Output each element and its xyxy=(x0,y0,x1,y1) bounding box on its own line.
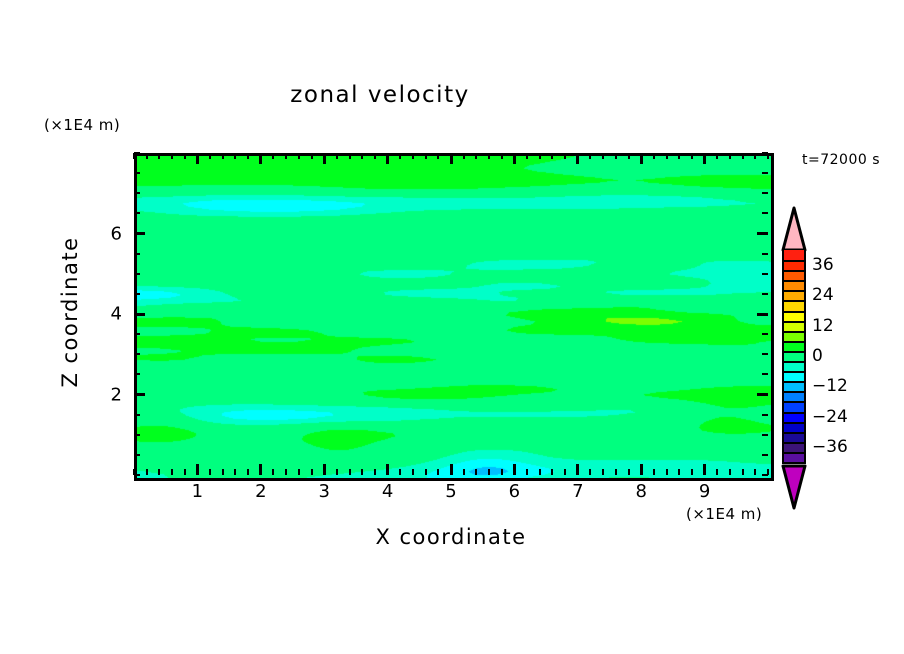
x-tick-label: 6 xyxy=(509,481,520,502)
y-tick-major-right xyxy=(757,313,768,316)
colorbar-segment xyxy=(782,331,806,341)
x-tick-major-top xyxy=(640,153,643,164)
colorbar[interactable] xyxy=(782,250,806,462)
x-tick-label: 1 xyxy=(192,481,203,502)
y-tick-minor-right xyxy=(762,333,768,335)
y-tick-minor-right xyxy=(762,474,768,476)
x-tick-minor xyxy=(488,469,490,475)
x-tick-label: 4 xyxy=(382,481,393,502)
y-tick-minor-right xyxy=(762,192,768,194)
x-tick-minor xyxy=(551,469,553,475)
x-tick-minor xyxy=(412,469,414,475)
colorbar-segment xyxy=(782,260,806,270)
x-tick-minor-top xyxy=(311,153,313,159)
x-tick-label: 8 xyxy=(635,481,646,502)
x-tick-minor-top xyxy=(564,153,566,159)
y-tick-minor-right xyxy=(762,172,768,174)
x-tick-major xyxy=(259,464,262,475)
y-tick-minor-right xyxy=(762,434,768,436)
timestamp-label: t=72000 s xyxy=(802,152,880,168)
x-tick-minor xyxy=(463,469,465,475)
x-tick-minor-top xyxy=(361,153,363,159)
colorbar-segment xyxy=(782,270,806,280)
x-tick-minor-top xyxy=(602,153,604,159)
x-tick-label: 9 xyxy=(699,481,710,502)
x-tick-major xyxy=(703,464,706,475)
x-tick-minor xyxy=(374,469,376,475)
x-tick-minor xyxy=(336,469,338,475)
y-tick-minor xyxy=(134,192,140,194)
x-tick-minor-top xyxy=(488,153,490,159)
x-tick-minor-top xyxy=(729,153,731,159)
x-tick-minor xyxy=(285,469,287,475)
colorbar-segment xyxy=(782,290,806,300)
colorbar-tick-label: −12 xyxy=(812,376,848,396)
x-tick-minor xyxy=(589,469,591,475)
x-tick-minor-top xyxy=(678,153,680,159)
y-tick-minor-right xyxy=(762,373,768,375)
x-tick-minor-top xyxy=(653,153,655,159)
figure-root: zonal velocity (×1E4 m) (×1E4 m) Z coord… xyxy=(0,0,904,654)
x-tick-minor xyxy=(361,469,363,475)
x-tick-minor xyxy=(653,469,655,475)
colorbar-segment xyxy=(782,432,806,442)
colorbar-tick-label: −36 xyxy=(812,437,848,457)
x-tick-major xyxy=(576,464,579,475)
y-tick-minor xyxy=(134,253,140,255)
y-tick-minor xyxy=(134,172,140,174)
colorbar-segment xyxy=(782,412,806,422)
colorbar-segment xyxy=(782,300,806,310)
colorbar-segment xyxy=(782,321,806,331)
x-tick-label: 5 xyxy=(445,481,456,502)
x-tick-minor xyxy=(754,469,756,475)
colorbar-over-arrow-icon xyxy=(776,206,812,252)
x-tick-minor xyxy=(678,469,680,475)
x-tick-minor-top xyxy=(615,153,617,159)
y-tick-minor-right xyxy=(762,253,768,255)
x-tick-major-top xyxy=(450,153,453,164)
colorbar-segment xyxy=(782,401,806,411)
x-tick-minor xyxy=(729,469,731,475)
x-tick-minor-top xyxy=(501,153,503,159)
y-tick-minor xyxy=(134,273,140,275)
y-tick-minor xyxy=(134,212,140,214)
x-tick-major-top xyxy=(703,153,706,164)
x-tick-minor xyxy=(539,469,541,475)
colorbar-segment xyxy=(782,442,806,452)
x-tick-minor-top xyxy=(374,153,376,159)
y-tick-minor xyxy=(134,373,140,375)
x-tick-major xyxy=(323,464,326,475)
x-tick-minor xyxy=(399,469,401,475)
x-tick-minor-top xyxy=(171,153,173,159)
x-tick-major-top xyxy=(513,153,516,164)
x-tick-minor-top xyxy=(754,153,756,159)
x-tick-minor xyxy=(209,469,211,475)
x-tick-minor-top xyxy=(437,153,439,159)
y-tick-minor-right xyxy=(762,152,768,154)
colorbar-segment xyxy=(782,452,806,462)
colorbar-segment xyxy=(782,381,806,391)
y-tick-minor-right xyxy=(762,353,768,355)
x-tick-minor xyxy=(475,469,477,475)
x-tick-minor xyxy=(526,469,528,475)
x-tick-minor-top xyxy=(298,153,300,159)
y-tick-major xyxy=(134,313,145,316)
x-tick-major-top xyxy=(196,153,199,164)
x-tick-minor-top xyxy=(742,153,744,159)
page-title: zonal velocity xyxy=(0,82,760,108)
y-axis-unit-label: (×1E4 m) xyxy=(44,116,120,134)
y-tick-major xyxy=(134,393,145,396)
x-tick-minor xyxy=(234,469,236,475)
x-axis-title: X coordinate xyxy=(134,525,768,549)
x-tick-minor-top xyxy=(666,153,668,159)
x-tick-minor-top xyxy=(285,153,287,159)
x-tick-label: 7 xyxy=(572,481,583,502)
colorbar-segment xyxy=(782,391,806,401)
y-axis-title: Z coordinate xyxy=(58,212,82,412)
y-tick-minor xyxy=(134,152,140,154)
colorbar-segment xyxy=(782,311,806,321)
x-tick-minor-top xyxy=(526,153,528,159)
x-tick-minor-top xyxy=(349,153,351,159)
x-tick-minor-top xyxy=(158,153,160,159)
y-tick-minor-right xyxy=(762,212,768,214)
x-tick-minor xyxy=(716,469,718,475)
colorbar-tick-label: 36 xyxy=(812,255,834,275)
x-tick-minor xyxy=(247,469,249,475)
x-tick-minor-top xyxy=(412,153,414,159)
x-tick-major-top xyxy=(259,153,262,164)
x-tick-major xyxy=(450,464,453,475)
colorbar-tick-label: 12 xyxy=(812,316,834,336)
x-tick-minor xyxy=(184,469,186,475)
x-tick-minor xyxy=(437,469,439,475)
colorbar-under-arrow-icon xyxy=(776,464,812,510)
x-tick-minor xyxy=(691,469,693,475)
y-tick-label: 4 xyxy=(96,304,122,325)
x-tick-minor xyxy=(349,469,351,475)
x-tick-minor-top xyxy=(463,153,465,159)
y-tick-label: 6 xyxy=(96,223,122,244)
x-tick-minor-top xyxy=(551,153,553,159)
x-tick-major xyxy=(386,464,389,475)
x-tick-minor xyxy=(311,469,313,475)
x-tick-minor-top xyxy=(716,153,718,159)
x-tick-minor xyxy=(222,469,224,475)
x-tick-minor xyxy=(158,469,160,475)
x-tick-minor xyxy=(615,469,617,475)
x-tick-minor-top xyxy=(628,153,630,159)
colorbar-segment xyxy=(782,371,806,381)
colorbar-tick-label: 0 xyxy=(812,346,823,366)
x-tick-minor-top xyxy=(184,153,186,159)
x-tick-major xyxy=(196,464,199,475)
contour-field xyxy=(137,156,771,478)
contour-plot-area xyxy=(134,153,774,481)
colorbar-segment xyxy=(782,280,806,290)
x-tick-minor xyxy=(666,469,668,475)
y-tick-minor-right xyxy=(762,273,768,275)
x-tick-minor-top xyxy=(399,153,401,159)
x-tick-major xyxy=(513,464,516,475)
x-tick-minor xyxy=(171,469,173,475)
x-tick-major-top xyxy=(576,153,579,164)
x-tick-label: 3 xyxy=(318,481,329,502)
y-tick-major-right xyxy=(757,232,768,235)
y-tick-minor xyxy=(134,474,140,476)
x-tick-minor xyxy=(564,469,566,475)
x-tick-minor-top xyxy=(425,153,427,159)
x-tick-major-top xyxy=(386,153,389,164)
x-tick-minor-top xyxy=(539,153,541,159)
x-tick-minor-top xyxy=(146,153,148,159)
x-tick-minor-top xyxy=(222,153,224,159)
x-tick-minor xyxy=(742,469,744,475)
x-tick-minor-top xyxy=(272,153,274,159)
colorbar-segment xyxy=(782,250,806,260)
x-axis-unit-label: (×1E4 m) xyxy=(686,505,762,523)
x-tick-minor-top xyxy=(691,153,693,159)
y-tick-major xyxy=(134,232,145,235)
colorbar-segment xyxy=(782,422,806,432)
x-tick-major-top xyxy=(323,153,326,164)
x-tick-minor xyxy=(272,469,274,475)
colorbar-segment xyxy=(782,341,806,351)
y-tick-minor xyxy=(134,353,140,355)
y-tick-major-right xyxy=(757,393,768,396)
x-tick-minor-top xyxy=(234,153,236,159)
y-tick-minor-right xyxy=(762,414,768,416)
x-tick-minor-top xyxy=(475,153,477,159)
y-tick-minor xyxy=(134,333,140,335)
x-tick-minor xyxy=(425,469,427,475)
x-tick-minor-top xyxy=(336,153,338,159)
colorbar-segment xyxy=(782,351,806,361)
y-tick-minor xyxy=(134,434,140,436)
x-tick-minor xyxy=(602,469,604,475)
colorbar-tick-label: 24 xyxy=(812,285,834,305)
x-tick-minor xyxy=(298,469,300,475)
y-tick-minor-right xyxy=(762,454,768,456)
x-tick-minor xyxy=(501,469,503,475)
x-tick-major xyxy=(640,464,643,475)
y-tick-minor xyxy=(134,454,140,456)
x-tick-minor-top xyxy=(247,153,249,159)
y-tick-minor-right xyxy=(762,293,768,295)
x-tick-minor-top xyxy=(589,153,591,159)
y-tick-minor xyxy=(134,293,140,295)
y-tick-label: 2 xyxy=(96,384,122,405)
y-tick-minor xyxy=(134,414,140,416)
x-tick-minor xyxy=(628,469,630,475)
x-tick-minor-top xyxy=(209,153,211,159)
x-tick-label: 2 xyxy=(255,481,266,502)
colorbar-tick-label: −24 xyxy=(812,407,848,427)
x-tick-minor xyxy=(146,469,148,475)
colorbar-segment xyxy=(782,361,806,371)
